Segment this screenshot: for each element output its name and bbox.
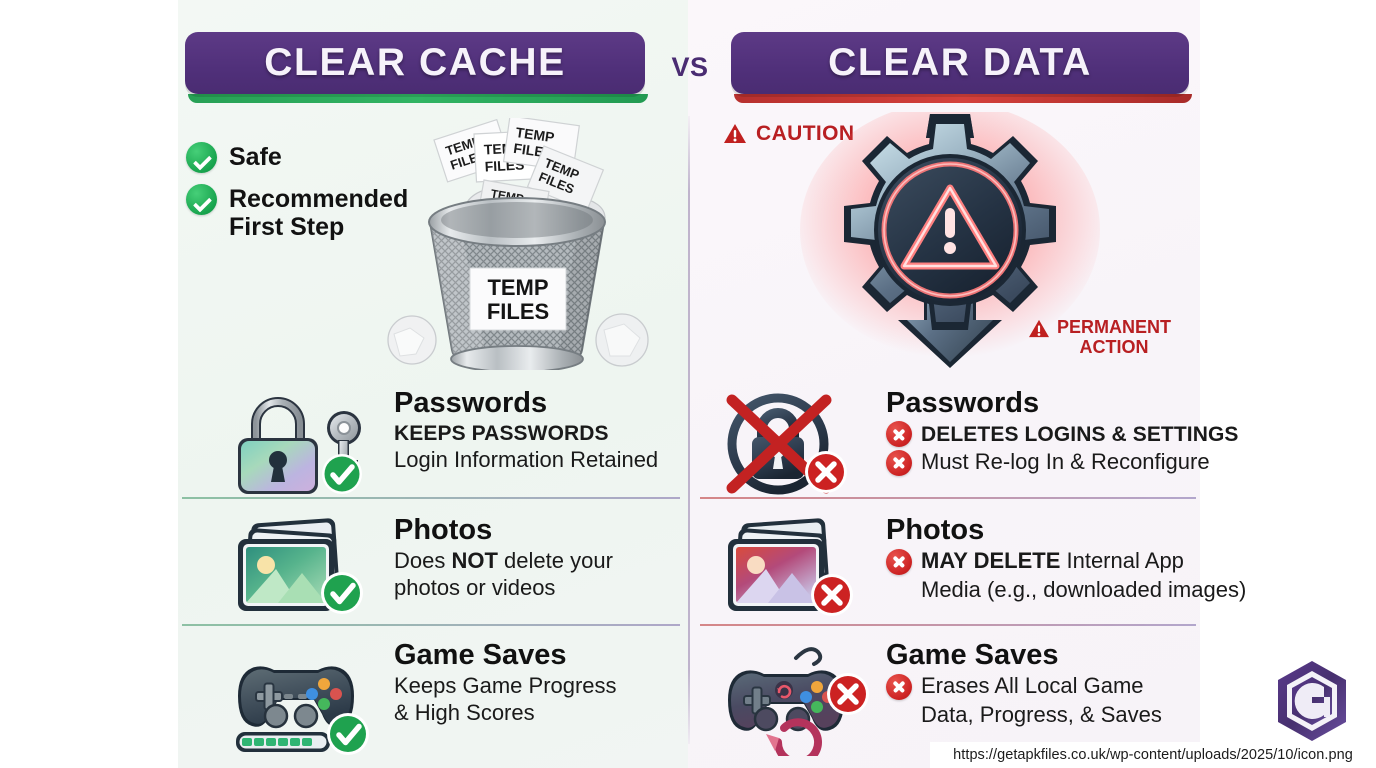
row-line-2: Login Information Retained xyxy=(394,447,658,474)
permanent-action-banner: PERMANENT ACTION xyxy=(1028,317,1204,357)
row-line-1-emphasis: MAY DELETE xyxy=(921,548,1060,573)
row-line-2: Media (e.g., downloaded images) xyxy=(921,577,1246,604)
row-line-1-wrap: Erases All Local Game xyxy=(886,673,1162,700)
cross-circle-icon xyxy=(886,450,912,476)
row-title: Photos xyxy=(394,515,613,546)
row-left-passwords: Passwords KEEPS PASSWORDS Login Informat… xyxy=(232,388,658,505)
row-line-1-suffix: delete your xyxy=(498,548,613,573)
clear-data-underline xyxy=(734,94,1192,103)
row-line-2: Must Re-log In & Reconfigure xyxy=(921,449,1210,476)
vs-label: VS xyxy=(660,52,720,83)
badge-safe-label: Safe xyxy=(229,142,282,171)
row-line-1: MAY DELETE Internal App xyxy=(921,548,1184,575)
svg-text:FILES: FILES xyxy=(487,299,549,324)
row-line-1: DELETES LOGINS & SETTINGS xyxy=(921,422,1239,448)
row-title: Game Saves xyxy=(394,640,617,671)
clear-cache-title: CLEAR CACHE xyxy=(264,41,565,85)
row-line-1: Erases All Local Game xyxy=(921,673,1144,700)
permanent-action-line-1: PERMANENT xyxy=(1057,317,1171,337)
row-right-passwords: Passwords DELETES LOGINS & SETTINGS Must… xyxy=(722,388,1239,505)
padlock-crossed-out-icon xyxy=(722,388,872,505)
clear-data-title: CLEAR DATA xyxy=(828,41,1092,85)
row-line-2: & High Scores xyxy=(394,700,617,727)
photos-stack-icon xyxy=(232,515,380,628)
row-line-1: Keeps Game Progress xyxy=(394,673,617,700)
game-controller-icon xyxy=(722,640,872,761)
check-circle-icon xyxy=(186,184,217,215)
row-line-1-prefix: Does xyxy=(394,548,451,573)
row-line-1-emphasis: NOT xyxy=(451,548,497,573)
row-title: Photos xyxy=(886,515,1246,546)
right-separator-1 xyxy=(700,497,1196,499)
warning-triangle-icon xyxy=(1028,319,1050,339)
right-margin xyxy=(1200,0,1376,768)
left-margin xyxy=(0,0,178,768)
clear-cache-title-pill: CLEAR CACHE xyxy=(185,32,645,94)
clear-data-title-pill: CLEAR DATA xyxy=(731,32,1189,94)
header: CLEAR CACHE VS CLEAR DATA xyxy=(0,14,1376,106)
row-title: Passwords xyxy=(394,388,658,419)
photos-stack-icon xyxy=(722,515,872,628)
row-line-2: photos or videos xyxy=(394,575,613,602)
cross-circle-icon xyxy=(886,549,912,575)
column-divider xyxy=(688,116,690,744)
clear-cache-underline xyxy=(188,94,648,103)
row-line-1: KEEPS PASSWORDS xyxy=(394,421,658,447)
row-right-photos: Photos MAY DELETE Internal App Media (e.… xyxy=(722,515,1246,628)
left-separator-2 xyxy=(182,624,680,626)
trash-can-temp-files-icon: TEMPFILES TEMPFILES TEMPFILES TEMPFILES … xyxy=(382,118,672,370)
row-line-1: Does NOT delete your xyxy=(394,548,613,575)
row-title: Passwords xyxy=(886,388,1239,419)
row-line-1-wrap: DELETES LOGINS & SETTINGS xyxy=(886,421,1239,447)
right-separator-2 xyxy=(700,624,1196,626)
row-line-1-wrap: MAY DELETE Internal App xyxy=(886,548,1246,575)
row-line-2-wrap: Must Re-log In & Reconfigure xyxy=(886,449,1239,476)
row-title: Game Saves xyxy=(886,640,1162,671)
row-left-photos: Photos Does NOT delete your photos or vi… xyxy=(232,515,613,628)
left-separator-1 xyxy=(182,497,680,499)
row-line-1-suffix: Internal App xyxy=(1060,548,1184,573)
padlock-key-icon xyxy=(232,388,380,505)
cross-circle-icon xyxy=(886,674,912,700)
warning-triangle-icon xyxy=(723,123,747,145)
check-circle-icon xyxy=(186,142,217,173)
cross-circle-icon xyxy=(886,421,912,447)
hexagon-g-logo xyxy=(1268,657,1356,745)
permanent-action-line-2: ACTION xyxy=(1057,337,1171,357)
infographic-canvas: CLEAR CACHE VS CLEAR DATA Safe Recommend… xyxy=(0,0,1376,768)
game-controller-icon xyxy=(232,640,380,761)
source-url-bar: https://getapkfiles.co.uk/wp-content/upl… xyxy=(930,742,1376,768)
source-url: https://getapkfiles.co.uk/wp-content/upl… xyxy=(953,747,1353,763)
svg-text:TEMP: TEMP xyxy=(487,275,548,300)
row-left-game-saves: Game Saves Keeps Game Progress & High Sc… xyxy=(232,640,617,761)
row-line-2: Data, Progress, & Saves xyxy=(921,702,1162,729)
progress-bar-icon xyxy=(236,732,330,752)
